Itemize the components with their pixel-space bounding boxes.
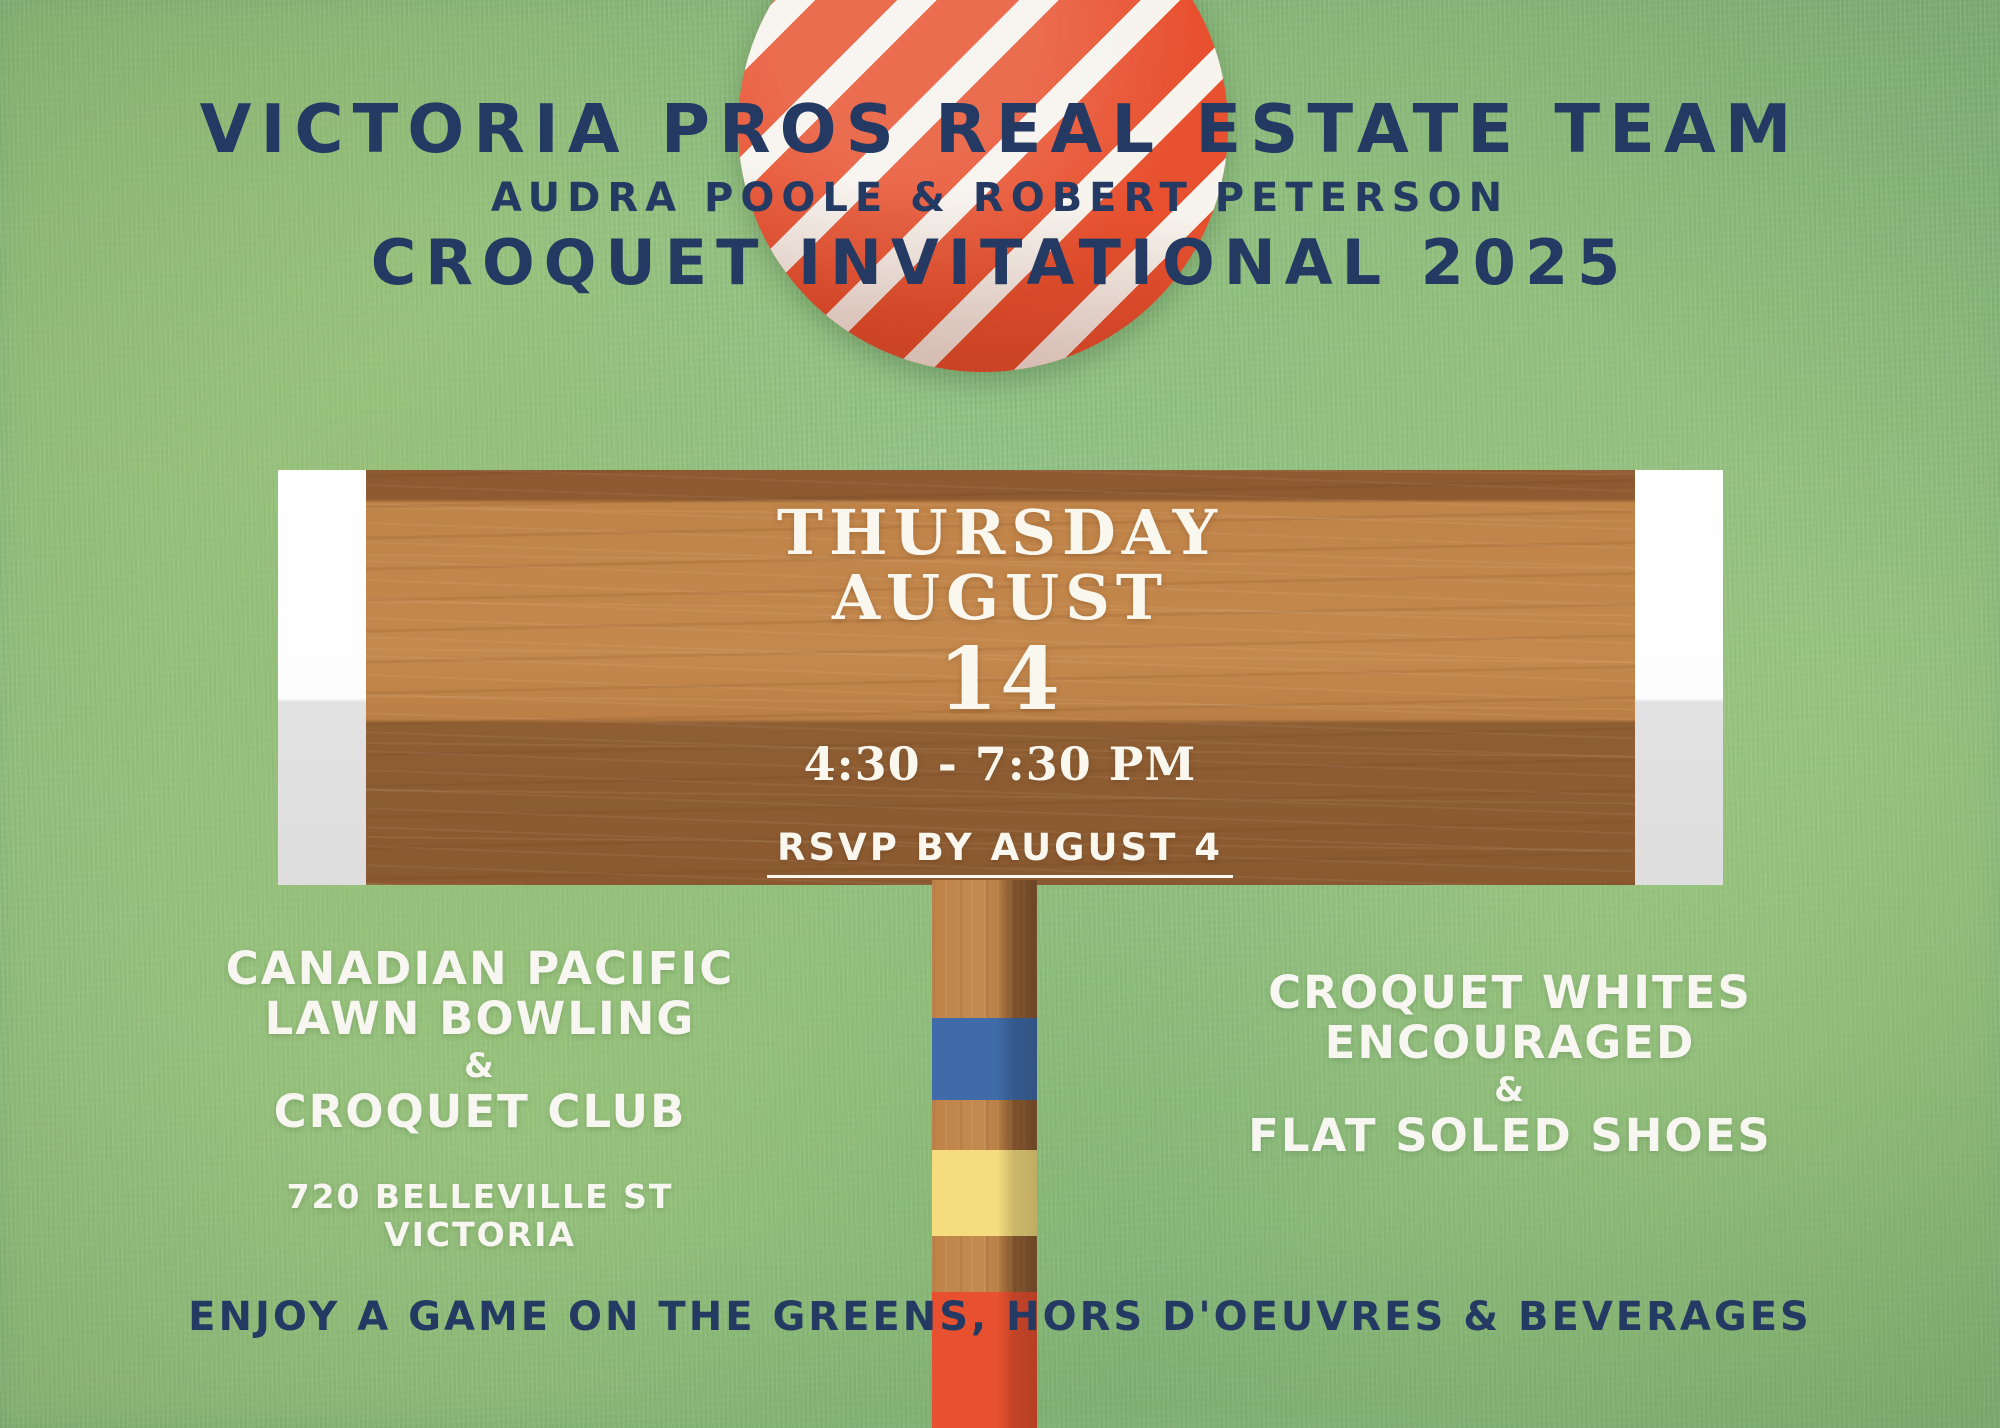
event-day-of-week: Thursday	[620, 500, 1380, 565]
page-title: Victoria Pros Real Estate Team	[0, 96, 2000, 163]
venue-address-line-2: Victoria	[110, 1216, 850, 1254]
event-time: 4:30 - 7:30 PM	[620, 739, 1380, 790]
event-month: August	[620, 565, 1380, 630]
venue-address-line-1: 720 Belleville St	[110, 1178, 850, 1216]
venue-name-line-3: Croquet Club	[110, 1087, 850, 1137]
mallet-end-cap-left	[278, 470, 366, 885]
croquet-invitation-poster: Victoria Pros Real Estate Team Audra Poo…	[0, 0, 2000, 1428]
venue-name-line-2: Lawn Bowling	[110, 994, 850, 1044]
rsvp-deadline: RSVP by August 4	[620, 826, 1380, 869]
event-title: Croquet Invitational 2025	[0, 232, 2000, 294]
attire-ampersand: &	[1130, 1069, 1890, 1112]
attire-line-2: Encouraged	[1130, 1018, 1890, 1068]
venue-name-line-1: Canadian Pacific	[110, 944, 850, 994]
mallet-end-cap-right	[1635, 470, 1723, 885]
attire-note: Croquet Whites Encouraged & Flat Soled S…	[1130, 968, 1890, 1162]
attire-line-3: Flat Soled Shoes	[1130, 1111, 1890, 1161]
handle-shading	[932, 880, 1037, 1428]
venue-ampersand: &	[110, 1045, 850, 1088]
event-day-number: 14	[620, 632, 1380, 728]
attire-line-1: Croquet Whites	[1130, 968, 1890, 1018]
agent-names: Audra Poole & Robert Peterson	[0, 178, 2000, 218]
rsvp-deadline-text: RSVP by August 4	[767, 826, 1233, 878]
venue-address: 720 Belleville St Victoria	[110, 1178, 850, 1254]
footer-note: Enjoy a game on the greens, hors d'oeuvr…	[0, 1294, 2000, 1340]
mallet-handle	[932, 880, 1037, 1428]
event-date-block: Thursday August 14 4:30 - 7:30 PM	[620, 500, 1380, 789]
venue-name: Canadian Pacific Lawn Bowling & Croquet …	[110, 944, 850, 1138]
